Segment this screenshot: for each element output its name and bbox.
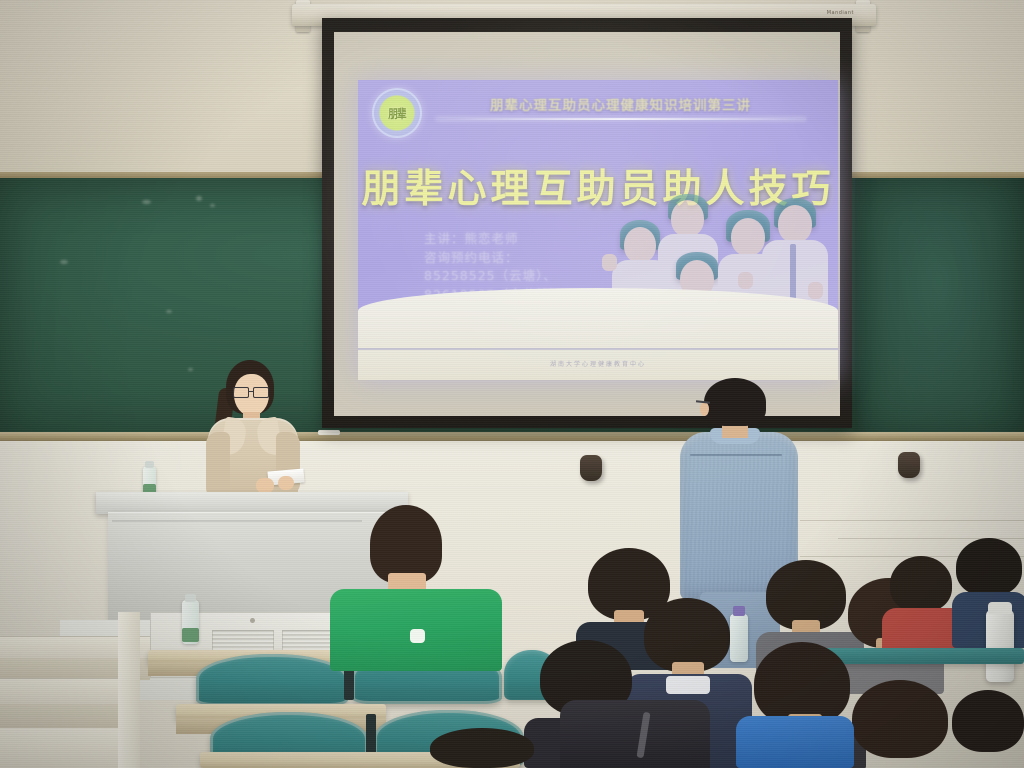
slide-baseline bbox=[358, 348, 838, 350]
seated-student-back-right bbox=[952, 690, 1024, 768]
platform-riser-2 bbox=[0, 704, 135, 730]
chalk-piece bbox=[318, 430, 340, 435]
backrow2-hair bbox=[852, 680, 948, 758]
blue-shirt-top bbox=[736, 716, 854, 768]
shirt-back-seam bbox=[690, 454, 782, 456]
platform-side-wall bbox=[118, 612, 140, 768]
navy-hair bbox=[644, 598, 730, 672]
seated-student-blue-shirt bbox=[736, 706, 854, 768]
thermos-bottle bbox=[986, 610, 1014, 682]
water-bottle-desk-front-label bbox=[182, 628, 199, 642]
green-student-hair bbox=[370, 505, 442, 583]
presenter-arm-left bbox=[206, 432, 230, 498]
blueback-hair bbox=[956, 538, 1022, 596]
platform-step-2 bbox=[0, 678, 135, 706]
slide-logo-text: 朋辈 bbox=[388, 105, 406, 122]
presenter-hand-left bbox=[256, 478, 274, 493]
slide-divider-rule bbox=[436, 118, 806, 120]
seated-student-back-row-2 bbox=[844, 680, 964, 768]
red-hair bbox=[890, 556, 952, 612]
standing-student-ear bbox=[700, 402, 709, 416]
slide-subtitle-line-2: 85258525（云塘）、 bbox=[424, 267, 563, 286]
thermos-cap bbox=[988, 602, 1012, 614]
presenter bbox=[196, 360, 308, 500]
presenter-glasses bbox=[233, 387, 269, 396]
seated-student-green-shirt bbox=[330, 505, 506, 670]
student-backpack bbox=[560, 700, 710, 768]
frontleft-hair bbox=[430, 728, 534, 768]
platform-step-3 bbox=[0, 728, 122, 768]
slide-subtitle-line-1: 咨询预约电话： bbox=[424, 249, 563, 268]
water-bottle-podium-cap bbox=[145, 461, 154, 468]
projector-screen-frame: 朋辈 朋辈心理互助员心理健康知识培训第三讲 朋辈心理互助员助人技巧 主讲：熊恋老… bbox=[322, 18, 852, 428]
wall-speaker-left bbox=[580, 455, 602, 481]
slide-header-text: 朋辈心理互助员心理健康知识培训第三讲 bbox=[428, 94, 813, 114]
presenter-hand-right bbox=[278, 476, 294, 490]
wall-speaker-right bbox=[898, 452, 920, 478]
slide-subtitle-line-0: 主讲：熊恋老师 bbox=[424, 230, 563, 249]
podium-edge-line bbox=[112, 520, 362, 522]
green-student-shirt-logo bbox=[410, 629, 425, 643]
water-bottle-desk-front-cap bbox=[185, 594, 196, 602]
seated-student-front-left-dark bbox=[430, 728, 540, 768]
slide-footer-text: 湖南大学心理健康教育中心 bbox=[358, 359, 838, 368]
classroom-photo: Mandiant 朋辈 朋辈心理互助员心理健康知识培训第三讲 朋辈心理互助员助人… bbox=[0, 0, 1024, 768]
cabinet-knob[interactable] bbox=[250, 618, 255, 623]
slide-logo-badge: 朋辈 bbox=[372, 88, 422, 138]
housing-brand-label: Mandiant bbox=[827, 10, 854, 16]
projector-screen-canvas: 朋辈 朋辈心理互助员心理健康知识培训第三讲 朋辈心理互助员助人技巧 主讲：熊恋老… bbox=[334, 32, 840, 416]
standing-student-hair bbox=[704, 378, 766, 426]
backright-hair bbox=[952, 690, 1024, 752]
water-bottle-desk-center-cap bbox=[733, 606, 745, 616]
navy-collar bbox=[666, 676, 710, 694]
projected-slide: 朋辈 朋辈心理互助员心理健康知识培训第三讲 朋辈心理互助员助人技巧 主讲：熊恋老… bbox=[358, 80, 838, 380]
blackboard-right-panel bbox=[855, 178, 1024, 436]
